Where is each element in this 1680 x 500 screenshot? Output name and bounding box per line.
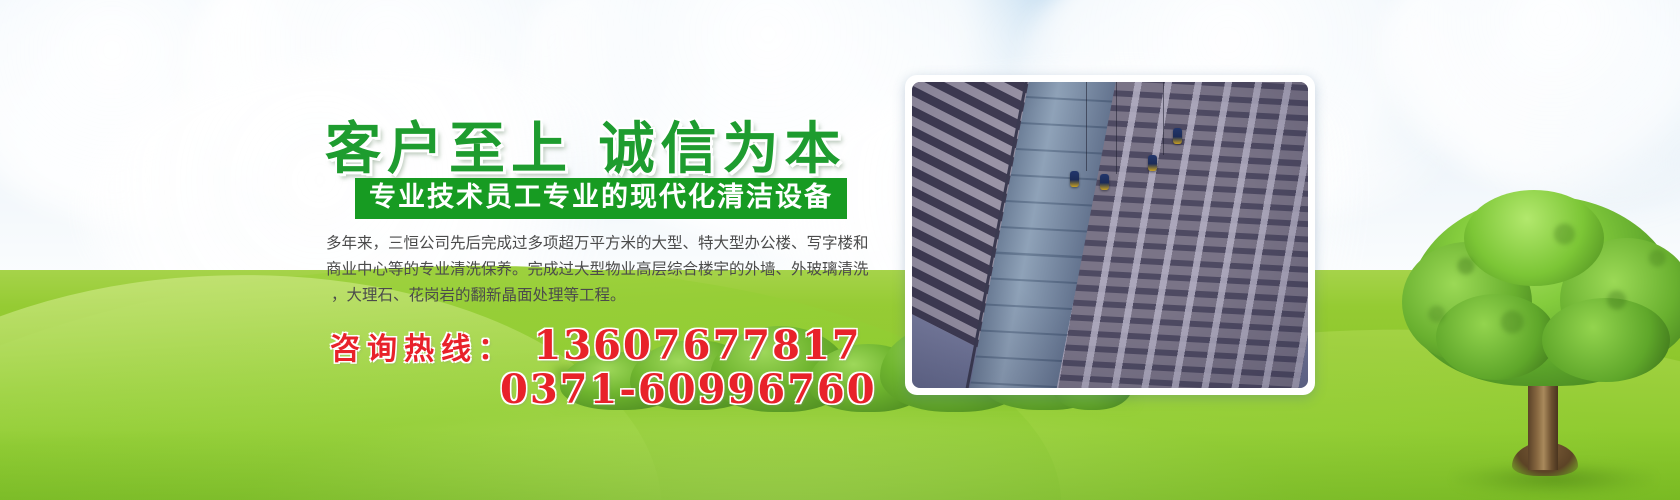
description-line: 多年来，三恒公司先后完成过多项超万平方米的大型、特大型办公楼、写字楼和	[326, 231, 886, 257]
description-line: 商业中心等的专业清洗保养。完成过大型物业高层综合楼宇的外墙、外玻璃清洗	[326, 257, 886, 283]
photo-vignette	[912, 82, 1308, 388]
hotline-label: 咨询热线：	[330, 324, 515, 368]
description-line: ，大理石、花岗岩的翻新晶面处理等工程。	[326, 283, 886, 309]
headline: 客户至上 诚信为本	[325, 104, 847, 185]
promo-banner: 客户至上 诚信为本 专业技术员工专业的现代化清洁设备 多年来，三恒公司先后完成过…	[0, 0, 1680, 500]
tree-foliage-texture	[1402, 190, 1680, 390]
large-tree	[1402, 190, 1680, 500]
hotline-mobile-number[interactable]: 13607677817	[533, 322, 861, 369]
building-photo-frame[interactable]	[905, 75, 1315, 395]
building-photo	[912, 82, 1308, 388]
subtitle-bar-label: 专业技术员工专业的现代化清洁设备	[369, 184, 833, 211]
hotline-landline-number[interactable]: 0371-60996760	[500, 366, 877, 413]
description-paragraph: 多年来，三恒公司先后完成过多项超万平方米的大型、特大型办公楼、写字楼和 商业中心…	[326, 231, 886, 309]
hotline-row: 咨询热线： 13607677817	[330, 322, 862, 369]
subtitle-bar: 专业技术员工专业的现代化清洁设备	[355, 178, 847, 219]
